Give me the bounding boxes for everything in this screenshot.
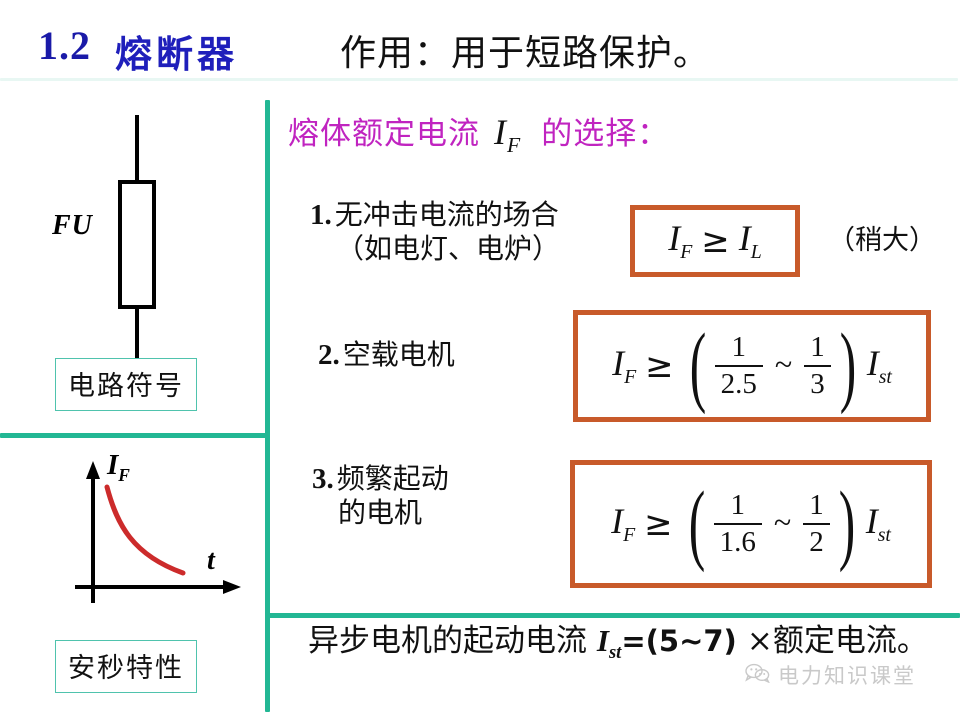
formula-box-3: IF ≥ ( 1 1.6 ~ 1 2 ) Ist (570, 460, 932, 588)
list-item-3-line2: 的电机 (312, 496, 449, 529)
bottom-note-part1: 异步电机的起动电流 (308, 623, 597, 659)
chart-y-axis-label: IF (107, 449, 130, 486)
caption-amp-second-characteristic: 安秒特性 (55, 640, 197, 693)
formula-3-operator: ≥ (644, 504, 673, 544)
divider-top (0, 78, 958, 81)
formula-1-lhs: IF (668, 217, 692, 264)
formula-3-range: ~ (774, 504, 791, 545)
list-item-2: 2.空载电机 (318, 338, 455, 372)
bottom-note-part3: 额定电流。 (773, 623, 928, 659)
list-item-1-line2: （如电灯、电炉） (310, 232, 560, 265)
formula-box-2: IF ≥ ( 1 2.5 ~ 1 3 ) Ist (573, 310, 931, 422)
formula-1-operator: ≥ (701, 221, 730, 261)
bottom-note-variable: Ist (597, 623, 621, 658)
amp-second-characteristic-chart: IF t (55, 455, 255, 630)
wechat-logo-icon (745, 663, 771, 688)
formula-3-lhs: IF (611, 500, 635, 547)
section-heading-variable: IF (494, 111, 521, 158)
note-slightly-larger: （稍大） (828, 218, 936, 257)
bottom-note-part2: =(5~7) (621, 624, 747, 658)
fuse-designator-label: FU (52, 210, 93, 242)
formula-3-fraction-1: 1 1.6 (714, 489, 762, 560)
list-item-2-line1: 空载电机 (343, 338, 455, 371)
formula-2-fraction-1: 1 2.5 (715, 331, 763, 402)
watermark-text: 电力知识课堂 (778, 660, 916, 690)
divider-vertical-main (265, 100, 270, 712)
list-item-1: 1.无冲击电流的场合 （如电灯、电炉） (310, 198, 560, 265)
usage-statement: 作用：用于短路保护。 (340, 24, 710, 76)
formula-2-range: ~ (775, 346, 792, 387)
list-item-1-line1: 无冲击电流的场合 (335, 198, 559, 231)
section-heading-lead: 熔体额定电流 (288, 108, 480, 153)
list-item-3-line1: 频繁起动 (337, 462, 449, 495)
chart-x-axis-label: t (207, 545, 215, 577)
formula-1-rhs: IL (739, 217, 762, 264)
divider-bottom (265, 613, 960, 618)
formula-2-rhs: Ist (867, 342, 892, 389)
section-heading: 熔体额定电流 IF 的选择： (288, 108, 669, 158)
section-heading-tail: 的选择： (541, 108, 669, 153)
formula-2-operator: ≥ (645, 346, 674, 386)
bottom-note-times: × (747, 623, 773, 659)
formula-box-1: IF ≥ IL (630, 205, 800, 277)
bottom-note: 异步电机的起动电流 Ist=(5~7) ×额定电流。 (308, 622, 948, 664)
page-title-number: 1.2 (38, 22, 91, 69)
watermark: 电力知识课堂 (745, 660, 916, 690)
caption-circuit-symbol: 电路符号 (55, 358, 197, 411)
formula-2-fraction-2: 1 3 (804, 331, 831, 402)
formula-2-lhs: IF (612, 342, 636, 389)
formula-3-fraction-2: 1 2 (803, 489, 830, 560)
fuse-circuit-symbol (60, 110, 260, 380)
divider-left-middle (0, 433, 270, 438)
list-item-3-number: 3. (312, 463, 334, 495)
formula-3-rhs: Ist (866, 500, 891, 547)
list-item-3: 3.频繁起动 的电机 (312, 462, 449, 529)
list-item-1-number: 1. (310, 199, 332, 231)
list-item-2-number: 2. (318, 339, 340, 371)
page-title: 熔断器 (115, 24, 238, 78)
